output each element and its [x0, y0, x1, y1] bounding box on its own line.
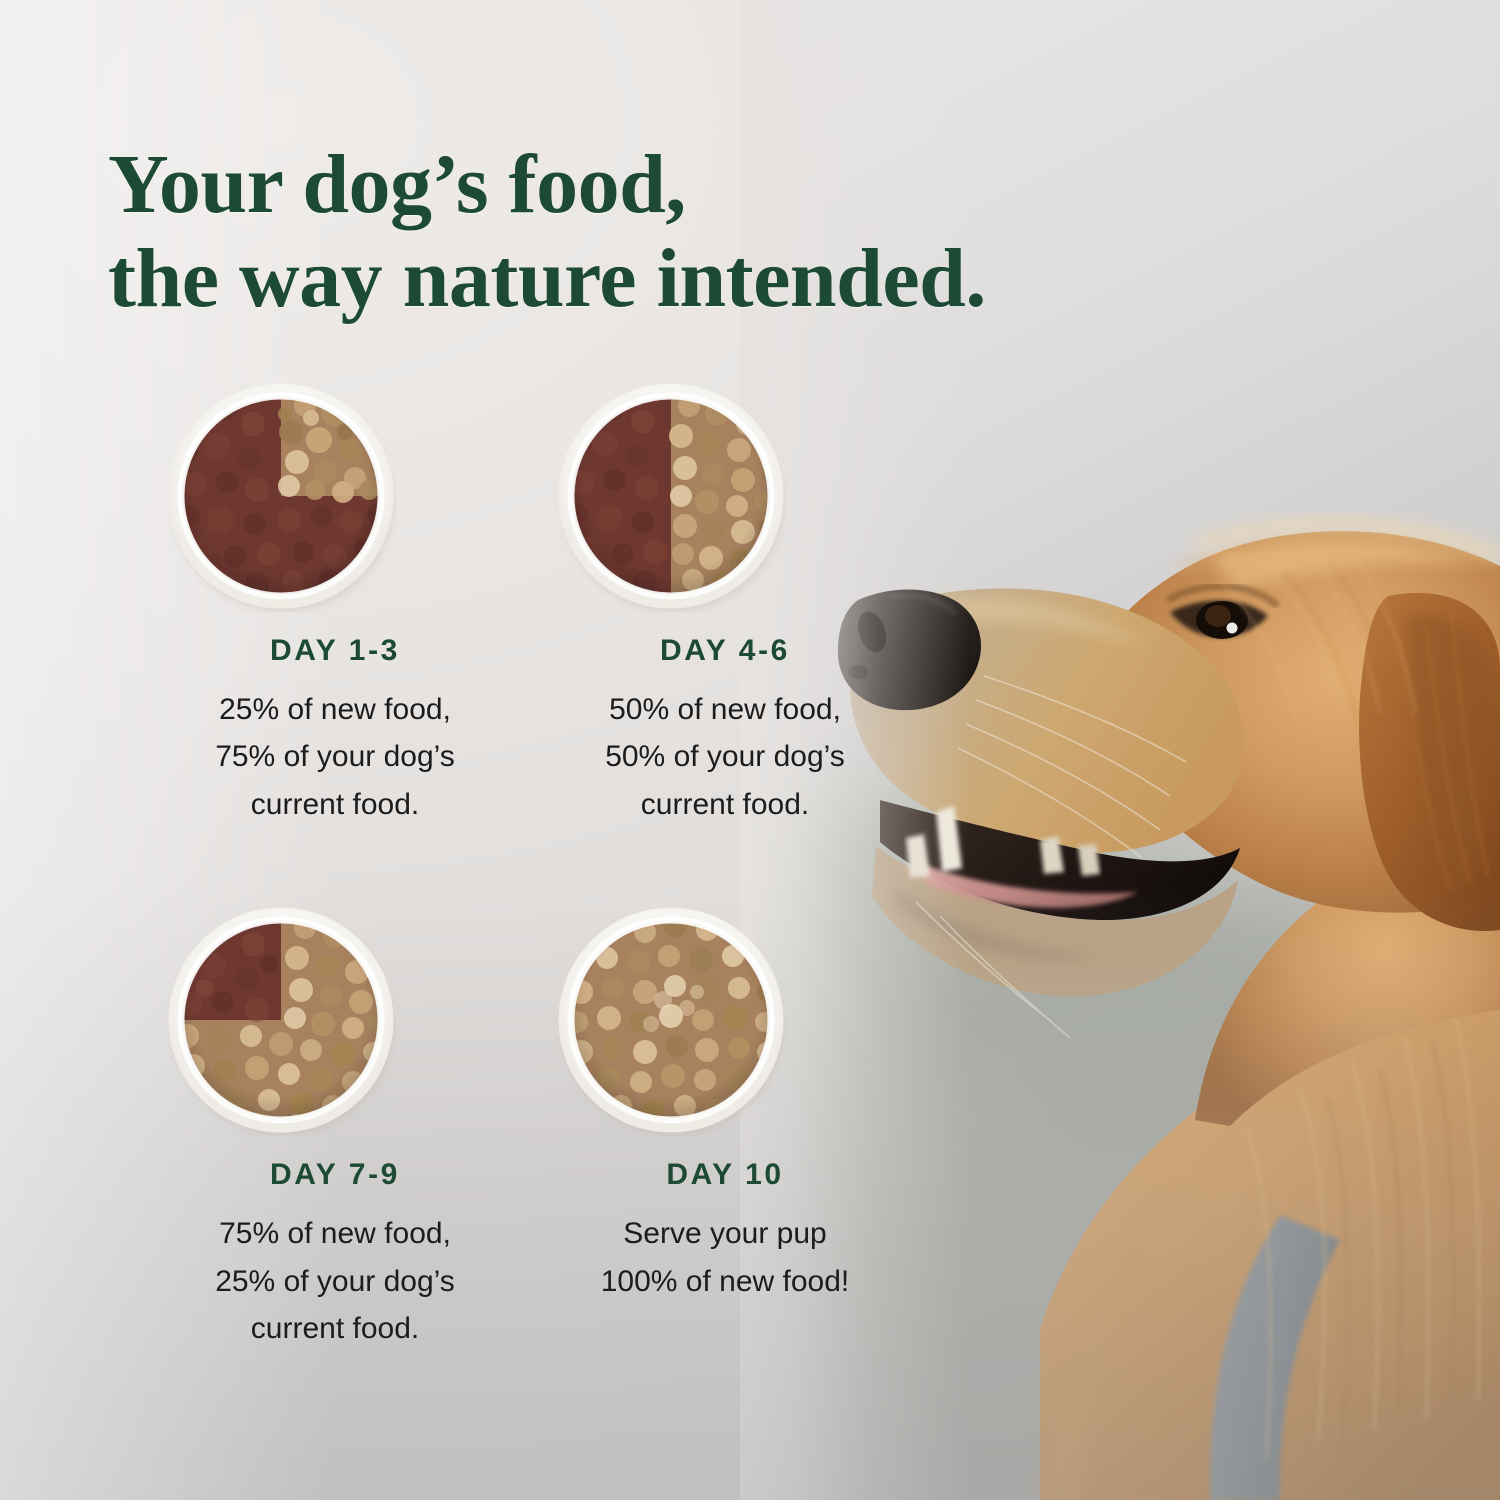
- step-card-day-7-9: DAY 7-9 75% of new food, 25% of your dog…: [140, 896, 530, 1352]
- desc-line: 100% of new food!: [530, 1258, 920, 1305]
- infographic-canvas: Your dog’s food, the way nature intended…: [0, 0, 1500, 1500]
- day-label-1: DAY 1-3: [140, 634, 530, 668]
- bowl-wrapper: [140, 896, 530, 1144]
- food-bowl-day-10: [555, 904, 787, 1136]
- food-bowl-day-4-6: [555, 380, 787, 612]
- desc-line: 75% of new food,: [140, 1210, 530, 1257]
- step-description-1: 25% of new food, 75% of your dog’s curre…: [140, 686, 530, 828]
- day-label-3: DAY 7-9: [140, 1158, 530, 1192]
- step-card-day-1-3: DAY 1-3 25% of new food, 75% of your dog…: [140, 372, 530, 828]
- page-title: Your dog’s food, the way nature intended…: [108, 138, 1158, 326]
- schedule-row-2: DAY 7-9 75% of new food, 25% of your dog…: [0, 896, 860, 1352]
- desc-line: current food.: [530, 781, 920, 828]
- day-label-2: DAY 4-6: [530, 634, 920, 668]
- headline-line-1: Your dog’s food,: [108, 138, 686, 231]
- headline-line-2: the way nature intended.: [108, 232, 1158, 326]
- day-label-4: DAY 10: [530, 1158, 920, 1192]
- desc-line: current food.: [140, 1305, 530, 1352]
- step-description-3: 75% of new food, 25% of your dog’s curre…: [140, 1210, 530, 1352]
- step-description-4: Serve your pup 100% of new food!: [530, 1210, 920, 1305]
- desc-line: 25% of new food,: [140, 686, 530, 733]
- desc-line: Serve your pup: [530, 1210, 920, 1257]
- bowl-wrapper: [140, 372, 530, 620]
- desc-line: 50% of new food,: [530, 686, 920, 733]
- food-bowl-day-7-9: [165, 904, 397, 1136]
- step-card-day-4-6: DAY 4-6 50% of new food, 50% of your dog…: [530, 372, 920, 828]
- bowl-wrapper: [530, 896, 920, 1144]
- bowl-wrapper: [530, 372, 920, 620]
- schedule-row-1: DAY 1-3 25% of new food, 75% of your dog…: [0, 372, 860, 828]
- transition-schedule-grid: DAY 1-3 25% of new food, 75% of your dog…: [0, 372, 860, 1352]
- step-description-2: 50% of new food, 50% of your dog’s curre…: [530, 686, 920, 828]
- desc-line: 75% of your dog’s: [140, 733, 530, 780]
- desc-line: current food.: [140, 781, 530, 828]
- food-bowl-day-1-3: [165, 380, 397, 612]
- step-card-day-10: DAY 10 Serve your pup 100% of new food!: [530, 896, 920, 1352]
- desc-line: 25% of your dog’s: [140, 1258, 530, 1305]
- desc-line: 50% of your dog’s: [530, 733, 920, 780]
